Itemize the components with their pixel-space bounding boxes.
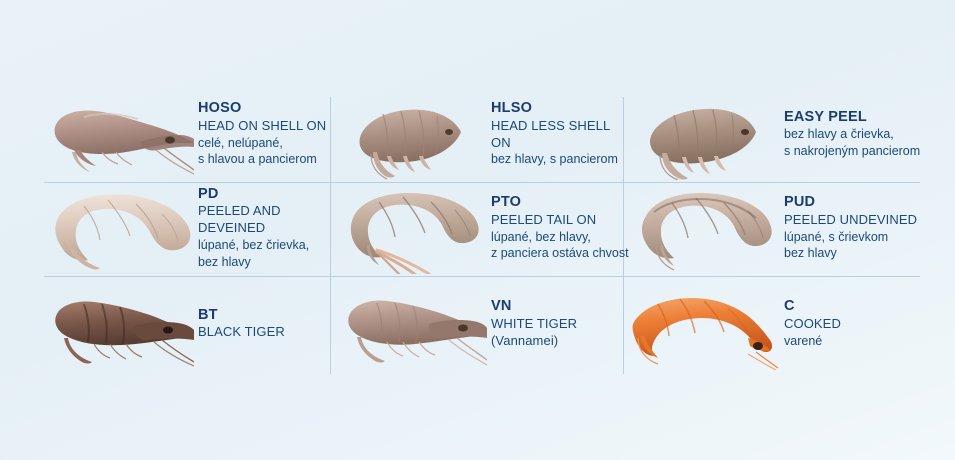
product-cell-c[interactable]: C COOKED varené xyxy=(630,278,920,370)
product-cell-easy-peel[interactable]: EASY PEEL bez hlavy a črievka, s nakroje… xyxy=(630,88,920,180)
product-text-c: C COOKED varené xyxy=(784,298,841,349)
product-code: BT xyxy=(198,307,285,324)
whole-raw-shrimp-head-on-icon xyxy=(44,88,194,180)
product-slovak-description: lúpané, bez črievka, bez hlavy xyxy=(198,237,334,270)
easy-peel-shrimp-icon xyxy=(630,88,780,180)
product-text-pto: PTO PEELED TAIL ON lúpané, bez hlavy, z … xyxy=(491,194,629,262)
product-english-name: PEELED TAIL ON xyxy=(491,212,629,229)
product-english-name: HEAD LESS SHELL ON xyxy=(491,118,627,152)
product-text-pd: PD PEELED AND DEVEINED lúpané, bez čriev… xyxy=(198,186,334,270)
product-english-name: PEELED AND DEVEINED xyxy=(198,203,334,237)
product-cell-pto[interactable]: PTO PEELED TAIL ON lúpané, bez hlavy, z … xyxy=(337,182,627,274)
product-code: EASY PEEL xyxy=(784,109,920,126)
product-cell-bt[interactable]: BT BLACK TIGER xyxy=(44,278,334,370)
product-code: PTO xyxy=(491,194,629,211)
product-text-pud: PUD PEELED UNDEVINED lúpané, s črievkom … xyxy=(784,194,917,262)
product-code: VN xyxy=(491,298,627,315)
headless-shell-on-shrimp-icon xyxy=(337,88,487,180)
product-code: C xyxy=(784,298,841,315)
product-cell-hlso[interactable]: HLSO HEAD LESS SHELL ON bez hlavy, s pan… xyxy=(337,88,627,180)
product-slovak-description: lúpané, bez hlavy, z panciera ostáva chv… xyxy=(491,229,629,262)
product-slovak-description: bez hlavy, s pancierom xyxy=(491,151,627,168)
product-cell-pd[interactable]: PD PEELED AND DEVEINED lúpané, bez čriev… xyxy=(44,182,334,274)
product-cell-pud[interactable]: PUD PEELED UNDEVINED lúpané, s črievkom … xyxy=(630,182,920,274)
product-code: PD xyxy=(198,186,334,203)
product-text-hlso: HLSO HEAD LESS SHELL ON bez hlavy, s pan… xyxy=(491,100,627,168)
product-code: HOSO xyxy=(198,100,326,117)
product-cell-vn[interactable]: VN WHITE TIGER (Vannamei) xyxy=(337,278,627,370)
peeled-undeveined-shrimp-icon xyxy=(630,182,780,274)
product-text-hoso: HOSO HEAD ON SHELL ON celé, nelúpané, s … xyxy=(198,100,326,168)
white-tiger-vannamei-shrimp-icon xyxy=(337,278,487,370)
product-english-name: COOKED xyxy=(784,316,841,333)
product-english-name: WHITE TIGER (Vannamei) xyxy=(491,316,627,350)
peeled-tail-on-shrimp-icon xyxy=(337,182,487,274)
product-code: PUD xyxy=(784,194,917,211)
product-text-easy-peel: EASY PEEL bez hlavy a črievka, s nakroje… xyxy=(784,109,920,160)
black-tiger-shrimp-icon xyxy=(44,278,194,370)
product-cell-hoso[interactable]: HOSO HEAD ON SHELL ON celé, nelúpané, s … xyxy=(44,88,334,180)
cooked-orange-shrimp-icon xyxy=(630,278,780,370)
product-code: HLSO xyxy=(491,100,627,117)
product-english-name: BLACK TIGER xyxy=(198,324,285,341)
product-text-vn: VN WHITE TIGER (Vannamei) xyxy=(491,298,627,349)
shrimp-chart-board: HOSO HEAD ON SHELL ON celé, nelúpané, s … xyxy=(0,0,955,460)
product-slovak-description: bez hlavy a črievka, s nakrojeným pancie… xyxy=(784,126,920,159)
product-slovak-description: varené xyxy=(784,333,841,350)
product-slovak-description: celé, nelúpané, s hlavou a pancierom xyxy=(198,135,326,168)
row-divider-2 xyxy=(44,276,920,277)
product-text-bt: BT BLACK TIGER xyxy=(198,307,285,342)
product-english-name: PEELED UNDEVINED xyxy=(784,212,917,229)
peeled-deveined-shrimp-icon xyxy=(44,182,194,274)
product-slovak-description: lúpané, s črievkom bez hlavy xyxy=(784,229,917,262)
product-english-name: HEAD ON SHELL ON xyxy=(198,118,326,135)
